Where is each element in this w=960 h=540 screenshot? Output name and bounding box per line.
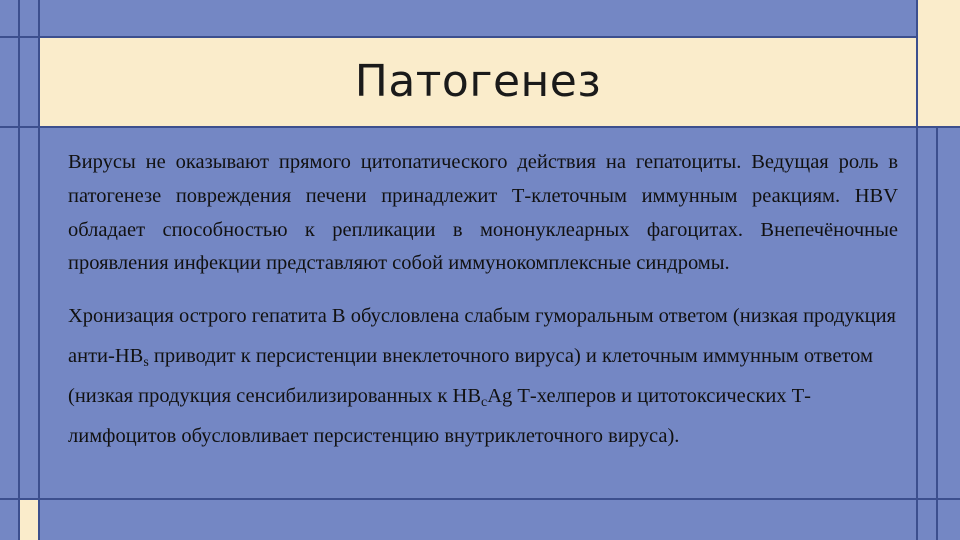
- accent-block-top-right: [918, 0, 960, 126]
- subscript-text: с: [481, 395, 487, 410]
- body-paragraph-2: Хронизация острого гепатита В обусловлен…: [68, 297, 898, 457]
- slide-title: Патогенез: [40, 38, 916, 126]
- slide: Патогенез Вирусы не оказывают прямого ци…: [0, 0, 960, 540]
- slide-body: Вирусы не оказывают прямого цитопатическ…: [68, 146, 898, 457]
- frame-vertical-line-left-outer: [18, 0, 20, 540]
- frame-horizontal-line-bottom: [0, 498, 960, 500]
- subscript-text: s: [143, 355, 148, 370]
- accent-block-bottom-left: [20, 500, 38, 540]
- body-paragraph-1: Вирусы не оказывают прямого цитопатическ…: [68, 146, 898, 281]
- frame-horizontal-line-title-bottom: [0, 126, 960, 128]
